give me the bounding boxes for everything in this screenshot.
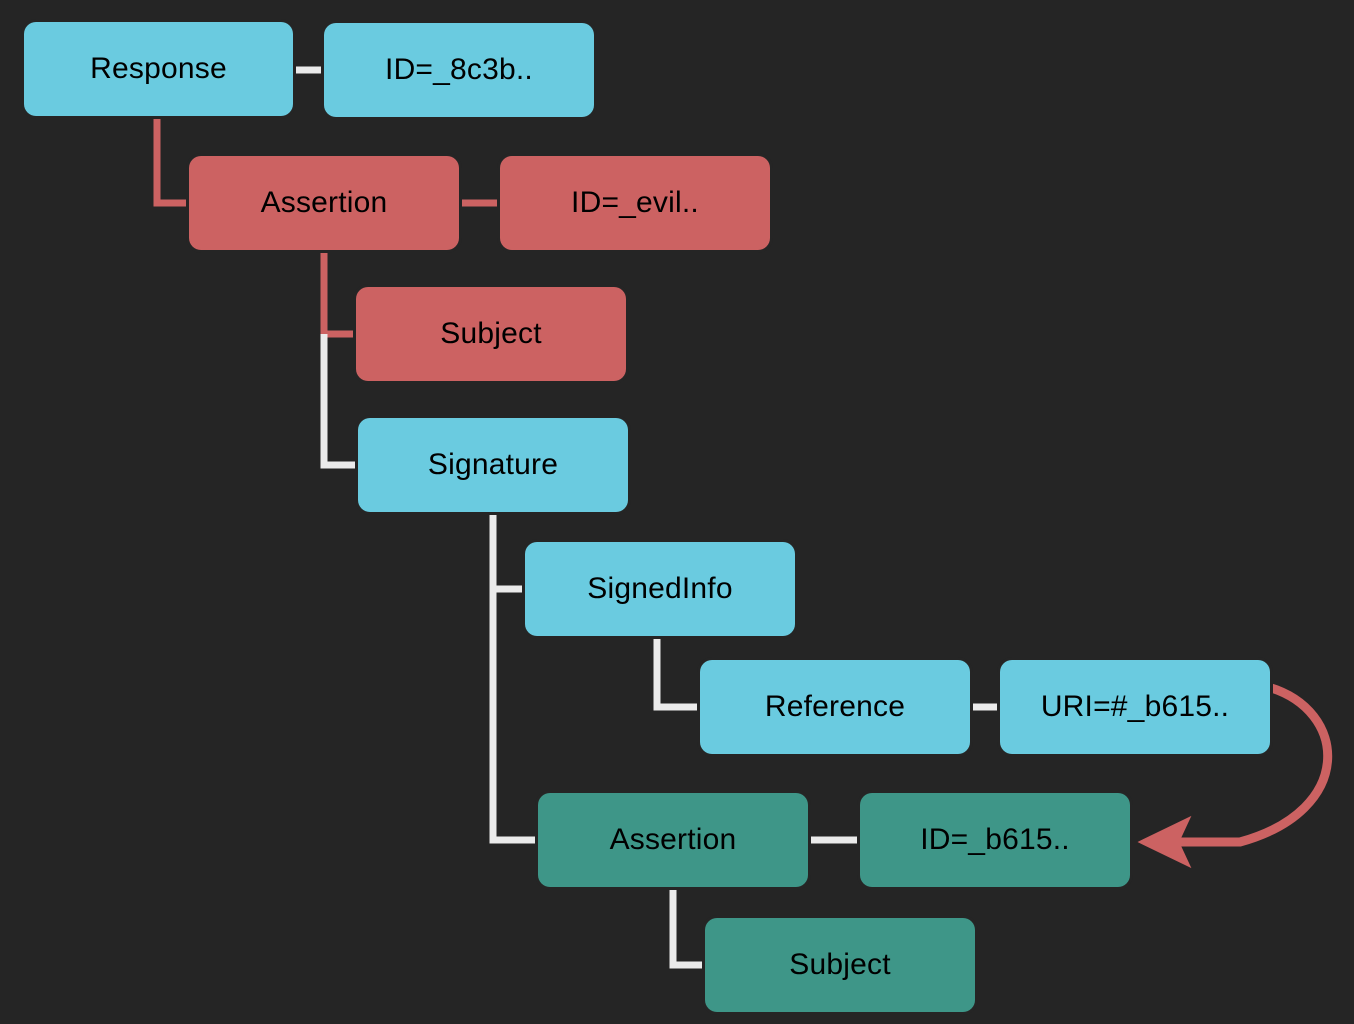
node-subject-original-label: Subject	[789, 950, 890, 980]
node-signature-label: Signature	[428, 450, 558, 480]
node-subject-evil-label: Subject	[440, 319, 541, 349]
node-assertion-original-id[interactable]: ID=_b615..	[860, 793, 1130, 887]
node-assertion-evil-id-label: ID=_evil..	[571, 188, 699, 218]
node-assertion-evil-id[interactable]: ID=_evil..	[500, 156, 770, 250]
node-subject-original[interactable]: Subject	[705, 918, 975, 1012]
node-signedinfo-label: SignedInfo	[587, 574, 732, 604]
node-assertion-original[interactable]: Assertion	[538, 793, 808, 887]
edge-response-to-assertion-evil	[157, 116, 189, 203]
edge-assertion-evil-to-signature	[324, 334, 358, 465]
edge-signedinfo-to-reference	[657, 636, 700, 707]
diagram-canvas: Response ID=_8c3b.. Assertion ID=_evil..…	[0, 0, 1354, 1024]
node-response-label: Response	[90, 54, 227, 84]
node-response-id[interactable]: ID=_8c3b..	[324, 23, 594, 117]
edge-signature-to-signedinfo	[493, 512, 525, 589]
node-signature[interactable]: Signature	[358, 418, 628, 512]
node-assertion-evil-label: Assertion	[261, 188, 388, 218]
node-response[interactable]: Response	[24, 22, 293, 116]
node-reference-label: Reference	[765, 692, 905, 722]
node-response-id-label: ID=_8c3b..	[385, 55, 533, 85]
node-uri-label: URI=#_b615..	[1041, 692, 1229, 722]
node-subject-evil[interactable]: Subject	[356, 287, 626, 381]
node-assertion-original-label: Assertion	[610, 825, 737, 855]
edge-assertion-evil-to-subject	[324, 250, 356, 334]
edge-assertion-orig-to-subject	[673, 887, 705, 965]
node-assertion-evil[interactable]: Assertion	[189, 156, 459, 250]
node-reference[interactable]: Reference	[700, 660, 970, 754]
node-assertion-original-id-label: ID=_b615..	[920, 825, 1070, 855]
node-uri[interactable]: URI=#_b615..	[1000, 660, 1270, 754]
node-signedinfo[interactable]: SignedInfo	[525, 542, 795, 636]
